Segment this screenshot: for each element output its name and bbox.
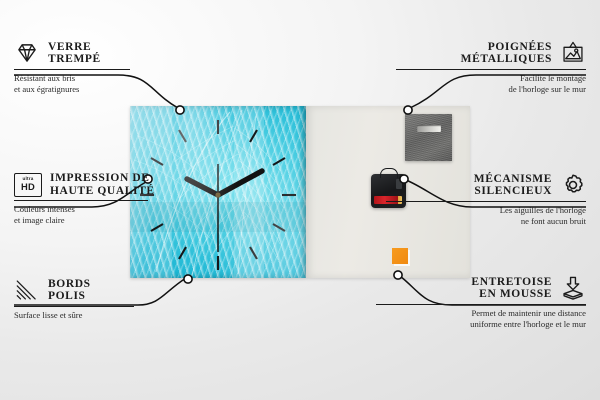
callout-subtitle-line1: Surface lisse et sûre <box>14 310 204 320</box>
callout-rule <box>386 201 586 202</box>
callout-subtitle-line1: Couleurs intenses <box>14 204 214 214</box>
hanger-slot <box>417 125 441 132</box>
ultra-hd-badge-icon: ultra HD <box>14 173 42 197</box>
callout-header: POIGNÉES MÉTALLIQUES <box>396 40 586 66</box>
callout-rule <box>376 304 586 305</box>
callout-poignees-metalliques: POIGNÉES MÉTALLIQUES Facilite le montage… <box>396 40 586 94</box>
hanger-plate <box>405 114 452 161</box>
callout-header: BORDS POLIS <box>14 277 204 303</box>
callout-title: IMPRESSION DE HAUTE QUALITÉ <box>50 172 155 197</box>
callout-mecanisme-silencieux: MÉCANISME SILENCIEUX Les aiguilles de l'… <box>386 172 586 226</box>
callout-bords-polis: BORDS POLIS Surface lisse et sûre <box>14 277 204 321</box>
callout-subtitle-line2: et aux égratignures <box>14 84 204 94</box>
diamond-icon <box>14 40 40 66</box>
callout-subtitle-line2: de l'horloge sur le mur <box>396 84 586 94</box>
callout-title: BORDS POLIS <box>48 278 91 303</box>
callout-header: ENTRETOISE EN MOUSSE <box>376 275 586 301</box>
infographic-stage: VERRE TREMPÉ Résistant aux bris et aux é… <box>0 0 600 400</box>
callout-title: MÉCANISME SILENCIEUX <box>474 173 552 198</box>
hanging-frame-icon <box>560 40 586 66</box>
callout-subtitle-line2: ne font aucun bruit <box>386 216 586 226</box>
callout-subtitle-line1: Résistant aux bris <box>14 73 204 83</box>
callout-impression-haute-qualite: ultra HD IMPRESSION DE HAUTE QUALITÉ Cou… <box>14 172 214 225</box>
hour-hand <box>218 171 262 195</box>
callout-verre-trempe: VERRE TREMPÉ Résistant aux bris et aux é… <box>14 40 204 94</box>
callout-subtitle-line1: Facilite le montage <box>396 73 586 83</box>
badge-text-large: HD <box>21 182 35 191</box>
callout-rule <box>14 69 130 70</box>
callout-title: POIGNÉES MÉTALLIQUES <box>461 41 552 66</box>
callout-rule <box>14 200 148 201</box>
callout-rule <box>14 306 134 307</box>
callout-subtitle-line1: Les aiguilles de l'horloge <box>386 205 586 215</box>
foam-spacer-pad <box>392 248 408 264</box>
callout-header: VERRE TREMPÉ <box>14 40 204 66</box>
callout-subtitle-line2: uniforme entre l'horloge et le mur <box>376 319 586 329</box>
callout-title: VERRE TREMPÉ <box>48 41 101 66</box>
callout-entretoise-en-mousse: ENTRETOISE EN MOUSSE Permet de maintenir… <box>376 275 586 329</box>
arrow-on-pad-icon <box>560 275 586 301</box>
callout-title: ENTRETOISE EN MOUSSE <box>471 276 552 301</box>
callout-header: MÉCANISME SILENCIEUX <box>386 172 586 198</box>
gear-icon <box>560 172 586 198</box>
callout-header: ultra HD IMPRESSION DE HAUTE QUALITÉ <box>14 172 214 197</box>
callout-rule <box>396 69 586 70</box>
callout-subtitle-line1: Permet de maintenir une distance <box>376 308 586 318</box>
callout-subtitle-line2: et image claire <box>14 215 214 225</box>
polished-edge-icon <box>14 277 40 303</box>
